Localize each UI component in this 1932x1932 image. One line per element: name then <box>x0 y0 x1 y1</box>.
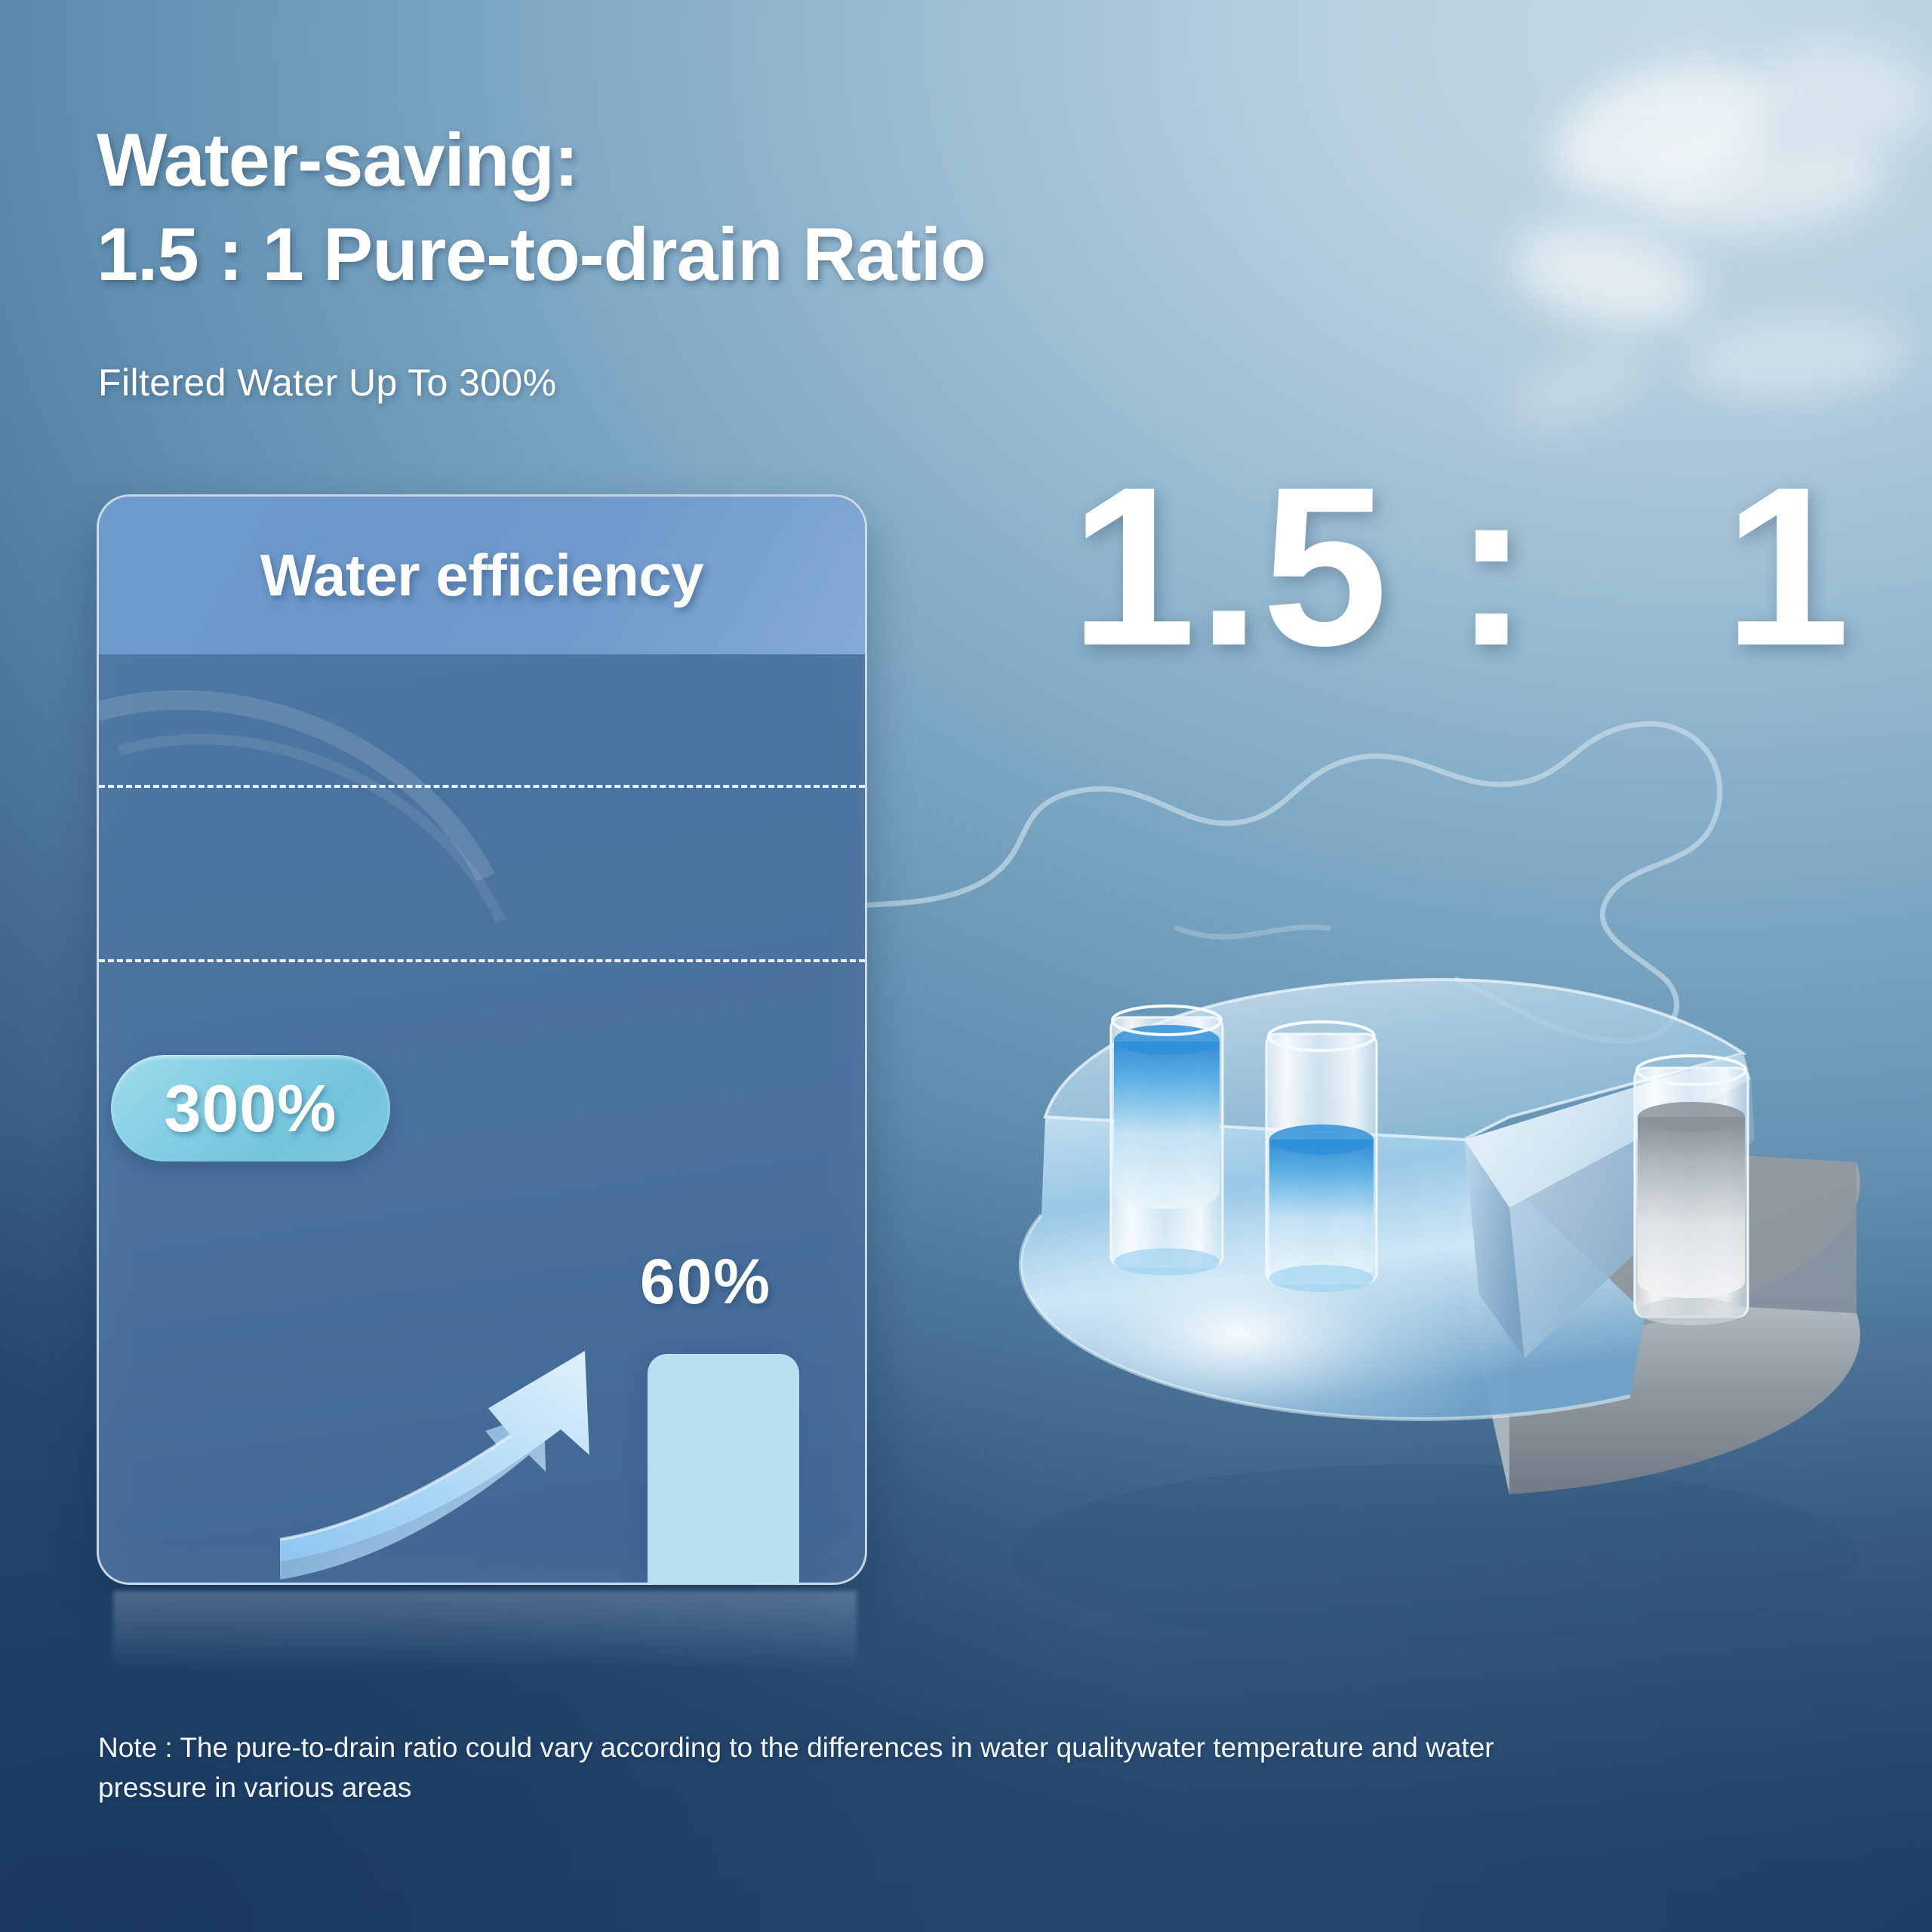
page-title: Water-saving: 1.5 : 1 Pure-to-drain Rati… <box>97 113 1229 301</box>
rising-arrow-icon <box>280 1342 650 1585</box>
badge-value: 300% <box>164 1070 337 1147</box>
card-title: Water efficiency <box>260 541 703 610</box>
ratio-display: 1.5 : 1 <box>1070 453 1851 679</box>
headline-line-2: 1.5 : 1 Pure-to-drain Ratio <box>97 208 1229 302</box>
panel-sheen <box>97 604 598 1278</box>
subtitle: Filtered Water Up To 300% <box>98 361 557 405</box>
bar-label-product: 60% <box>640 1245 771 1318</box>
card-reflection <box>113 1591 857 1681</box>
badge-300-percent: 300% <box>111 1055 390 1161</box>
glass-pure-1 <box>1111 1006 1223 1275</box>
bar-product <box>648 1354 799 1585</box>
note-text: Note : The pure-to-drain ratio could var… <box>98 1728 1600 1807</box>
pie-illustration <box>981 891 1902 1668</box>
glass-drain-1 <box>1635 1056 1748 1325</box>
card-header: Water efficiency <box>99 497 865 654</box>
headline-line-1: Water-saving: <box>97 113 1229 208</box>
water-efficiency-card: Water efficiency 300% 60% <box>97 494 867 1585</box>
glass-pure-2 <box>1266 1022 1377 1292</box>
gridline <box>99 785 865 788</box>
panel-sheen <box>97 648 604 1294</box>
gridline <box>99 959 865 962</box>
